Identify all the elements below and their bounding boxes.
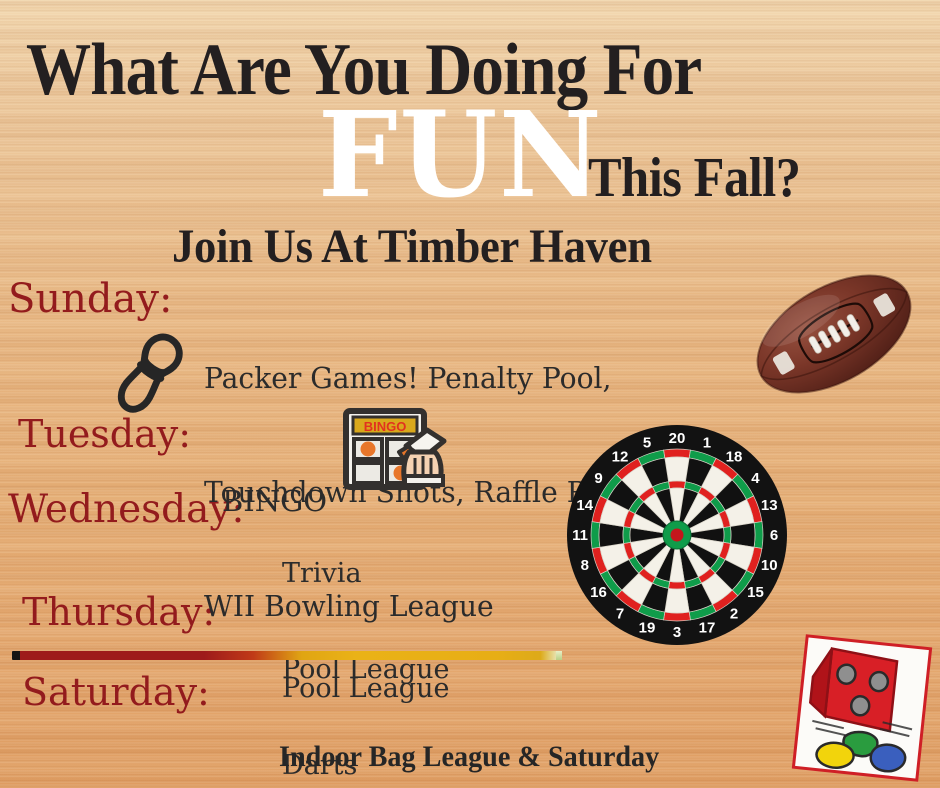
event-line: Trivia	[282, 558, 449, 590]
dartboard-number: 5	[643, 435, 651, 452]
dartboard-number: 11	[572, 527, 588, 544]
dartboard-number: 14	[576, 497, 593, 514]
cue-shaft	[20, 651, 562, 660]
event-text-saturday: Indoor Bag League & Saturday Morning Blo…	[279, 672, 659, 788]
dartboard-number: 6	[770, 527, 778, 544]
dartboard-number: 4	[751, 470, 760, 487]
day-label-sunday: Sunday:	[8, 279, 172, 319]
bingo-card-icon: BINGO	[343, 408, 453, 490]
event-line: Packer Games! Penalty Pool,	[204, 359, 654, 397]
bingo-header-text: BINGO	[364, 419, 407, 434]
dartboard-number: 1	[703, 435, 711, 452]
headline-tail: This Fall?	[588, 150, 801, 206]
pool-cue-icon	[12, 650, 562, 661]
bowling-pin-icon	[100, 325, 198, 423]
dartboard-number: 7	[616, 605, 624, 622]
dartboard-number: 20	[669, 430, 686, 447]
dartboard-number: 12	[612, 449, 629, 466]
football-icon	[742, 262, 927, 407]
subheadline-venue: Join Us At Timber Haven	[172, 223, 652, 271]
headline-fun-word: FUN	[318, 96, 604, 214]
dice-beanbags-icon	[788, 634, 936, 782]
dartboard-number: 19	[639, 619, 656, 636]
dartboard-number: 16	[590, 584, 607, 601]
event-line: Indoor Bag League & Saturday	[279, 740, 659, 774]
dartboard-number: 15	[747, 584, 764, 601]
dartboard-number: 9	[594, 470, 602, 487]
dartboard-number: 2	[730, 605, 738, 622]
day-label-saturday: Saturday:	[22, 673, 210, 711]
dartboard-number: 3	[673, 624, 681, 641]
dartboard-number: 8	[581, 557, 589, 574]
dartboard-number: 13	[761, 497, 778, 514]
dartboard-number: 10	[761, 557, 778, 574]
dartboard-number: 17	[699, 619, 716, 636]
day-label-thursday: Thursday:	[22, 593, 215, 631]
poster-canvas: What Are You Doing For FUN This Fall? Jo…	[0, 0, 940, 788]
dartboard-icon: 2011841361015217319716811149125	[566, 424, 788, 646]
dartboard-number: 18	[726, 449, 743, 466]
